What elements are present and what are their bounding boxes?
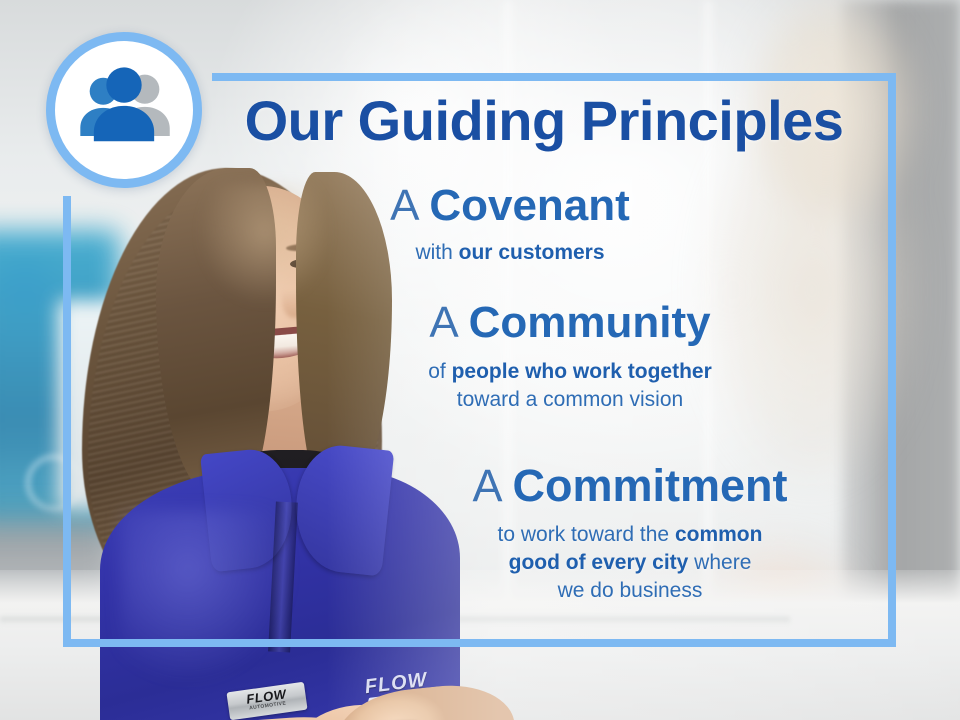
principle-keyword: Commitment: [513, 460, 788, 511]
principle-subtext-line: to work toward the common: [380, 521, 880, 549]
principle-article: A: [472, 460, 500, 511]
principle-subtext-line: toward a common vision: [320, 386, 820, 414]
principle-subtext-line: of people who work together: [320, 358, 820, 386]
people-group-icon: [72, 58, 176, 162]
principle-subtext-line: with our customers: [280, 239, 740, 267]
principle-block-community: A Community of people who work together …: [320, 300, 820, 414]
people-group-icon-badge: [46, 32, 202, 188]
principle-keyword: Community: [469, 298, 711, 347]
principle-subtext: to work toward the common good of every …: [380, 521, 880, 605]
principle-article: A: [429, 298, 456, 347]
principle-subtext-line: good of every city where: [380, 549, 880, 577]
shirt-highlight: [120, 510, 290, 680]
principle-block-covenant: A Covenant with our customers: [280, 183, 740, 267]
principle-heading: A Community: [320, 300, 820, 347]
principle-heading: A Commitment: [380, 462, 880, 510]
principle-subtext: of people who work together toward a com…: [320, 358, 820, 414]
principle-article: A: [390, 181, 417, 230]
principle-block-commitment: A Commitment to work toward the common g…: [380, 462, 880, 605]
poster-canvas: FLOW AUTOMOTIVE FLOW: [0, 0, 960, 720]
page-title: Our Guiding Principles: [214, 92, 874, 151]
principle-subtext-line: we do business: [380, 577, 880, 605]
principle-keyword: Covenant: [429, 181, 629, 230]
principle-subtext: with our customers: [280, 239, 740, 267]
principle-heading: A Covenant: [280, 183, 740, 230]
